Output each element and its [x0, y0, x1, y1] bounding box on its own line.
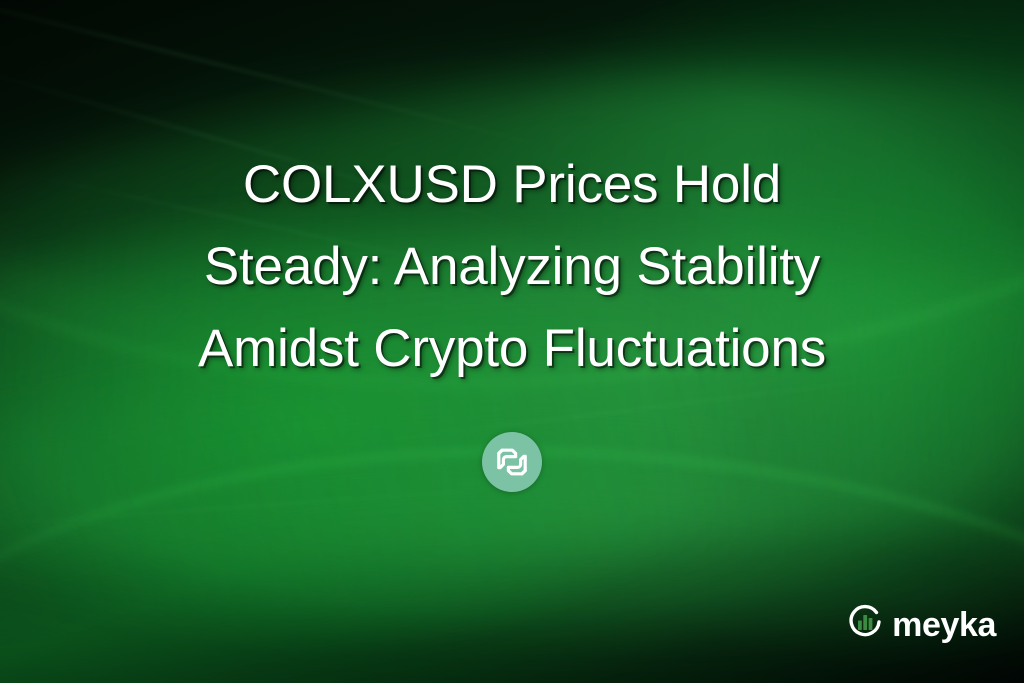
meyka-bar-chart-ring-icon	[845, 602, 885, 647]
center-badge	[482, 432, 542, 492]
cover-image-canvas: COLXUSD Prices Hold Steady: Analyzing St…	[0, 0, 1024, 683]
cover-content: COLXUSD Prices Hold Steady: Analyzing St…	[0, 0, 1024, 683]
page-title: COLXUSD Prices Hold Steady: Analyzing St…	[82, 0, 942, 390]
brand-name-text: meyka	[892, 608, 996, 642]
brand-logo: meyka	[845, 602, 996, 647]
interlocking-link-icon	[493, 443, 531, 481]
